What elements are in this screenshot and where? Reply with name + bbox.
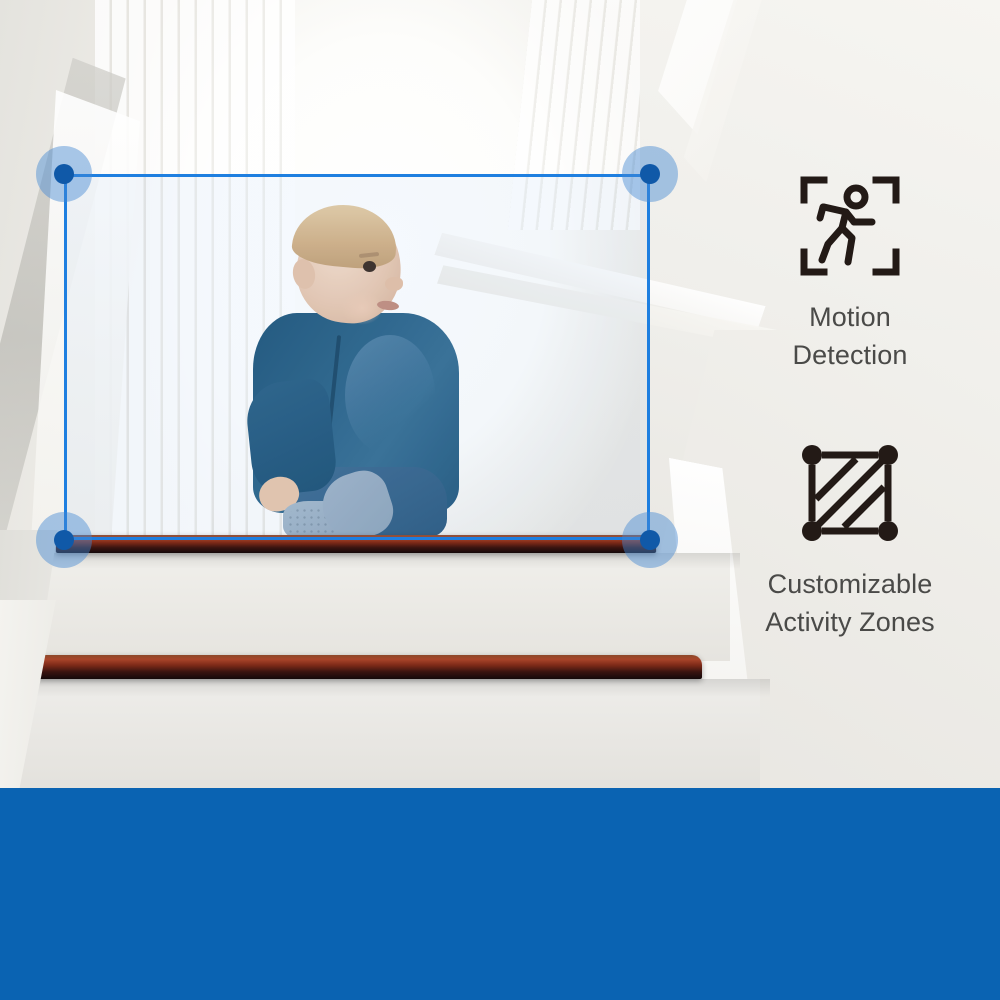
bottom-banner: Motion Detection and Notifications Contr… (0, 788, 1000, 1000)
handle-dot (640, 164, 660, 184)
activity-zone-icon (794, 437, 906, 549)
feature-label: Motion Detection (700, 298, 1000, 375)
feature-label-line2: Detection (700, 336, 1000, 374)
zone-handle-top-right[interactable] (622, 146, 678, 202)
zone-handle-bottom-right[interactable] (622, 512, 678, 568)
feature-activity-zones: Customizable Activity Zones (700, 437, 1000, 642)
zone-handle-bottom-left[interactable] (36, 512, 92, 568)
feature-motion-detection: Motion Detection (700, 170, 1000, 375)
feature-label-line1: Motion (700, 298, 1000, 336)
stair-tread-1 (0, 553, 730, 661)
stair-shadow-2 (0, 679, 770, 697)
feature-label: Customizable Activity Zones (700, 565, 1000, 642)
feature-label-line2: Activity Zones (700, 603, 1000, 641)
handle-dot (54, 530, 74, 550)
handle-dot (640, 530, 660, 550)
stair-nosing-2 (12, 655, 702, 679)
feature-list: Motion Detection (700, 170, 1000, 641)
activity-zone-rectangle[interactable] (64, 174, 650, 540)
zone-handle-top-left[interactable] (36, 146, 92, 202)
product-feature-poster: Motion Detection (0, 0, 1000, 1000)
motion-detection-icon (794, 170, 906, 282)
handle-dot (54, 164, 74, 184)
feature-label-line1: Customizable (700, 565, 1000, 603)
